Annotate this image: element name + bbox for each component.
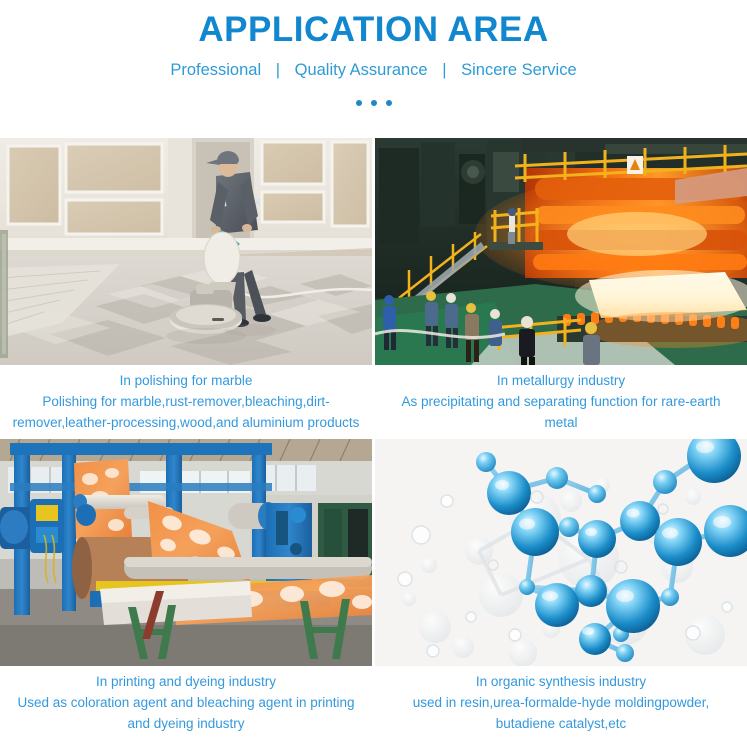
subtitle-row: Professional | Quality Assurance | Since…	[0, 59, 747, 81]
printing-dyeing-machine-photo[interactable]	[0, 439, 372, 666]
subtitle-item-professional: Professional	[170, 61, 261, 79]
card-caption: In metallurgy industry As precipitating …	[375, 365, 747, 439]
subtitle-separator-2: |	[432, 61, 456, 79]
caption-desc-line-2: butadiene catalyst,etc	[379, 713, 743, 734]
caption-desc-line-1: Used as coloration agent and bleaching a…	[4, 692, 368, 713]
divider-dot-icon	[371, 100, 377, 106]
card-caption: In printing and dyeing industry Used as …	[0, 666, 372, 737]
caption-title: In polishing for marble	[4, 370, 368, 391]
caption-desc-line-2: and dyeing industry	[4, 713, 368, 734]
caption-desc-line-1: As precipitating and separating function…	[379, 391, 743, 412]
application-card[interactable]: In metallurgy industry As precipitating …	[375, 138, 747, 439]
caption-desc-line-2: remover,leather-processing,wood,and alum…	[4, 412, 368, 433]
application-card[interactable]: In printing and dyeing industry Used as …	[0, 439, 372, 737]
molecular-structure-illustration[interactable]	[375, 439, 747, 666]
divider-dot-icon	[356, 100, 362, 106]
caption-desc-line-2: metal	[379, 412, 743, 433]
subtitle-item-sincere-service: Sincere Service	[461, 61, 577, 79]
divider-dot-icon	[386, 100, 392, 106]
subtitle-item-quality-assurance: Quality Assurance	[295, 61, 428, 79]
application-card[interactable]: In polishing for marble Polishing for ma…	[0, 138, 372, 439]
caption-title: In printing and dyeing industry	[4, 671, 368, 692]
application-area-page: APPLICATION AREA Professional | Quality …	[0, 0, 747, 737]
subtitle-separator-1: |	[266, 61, 290, 79]
metallurgy-plant-photo[interactable]	[375, 138, 747, 365]
caption-desc-line-1: Polishing for marble,rust-remover,bleach…	[4, 391, 368, 412]
dots-divider	[0, 94, 747, 112]
application-card-grid: In polishing for marble Polishing for ma…	[0, 138, 747, 737]
marble-polishing-photo[interactable]	[0, 138, 372, 365]
caption-desc-line-1: used in resin,urea-formalde-hyde molding…	[379, 692, 743, 713]
card-caption: In organic synthesis industry used in re…	[375, 666, 747, 737]
page-title: APPLICATION AREA	[0, 8, 747, 52]
application-card[interactable]: In organic synthesis industry used in re…	[375, 439, 747, 737]
page-header: APPLICATION AREA Professional | Quality …	[0, 0, 747, 112]
caption-title: In organic synthesis industry	[379, 671, 743, 692]
caption-title: In metallurgy industry	[379, 370, 743, 391]
card-caption: In polishing for marble Polishing for ma…	[0, 365, 372, 439]
